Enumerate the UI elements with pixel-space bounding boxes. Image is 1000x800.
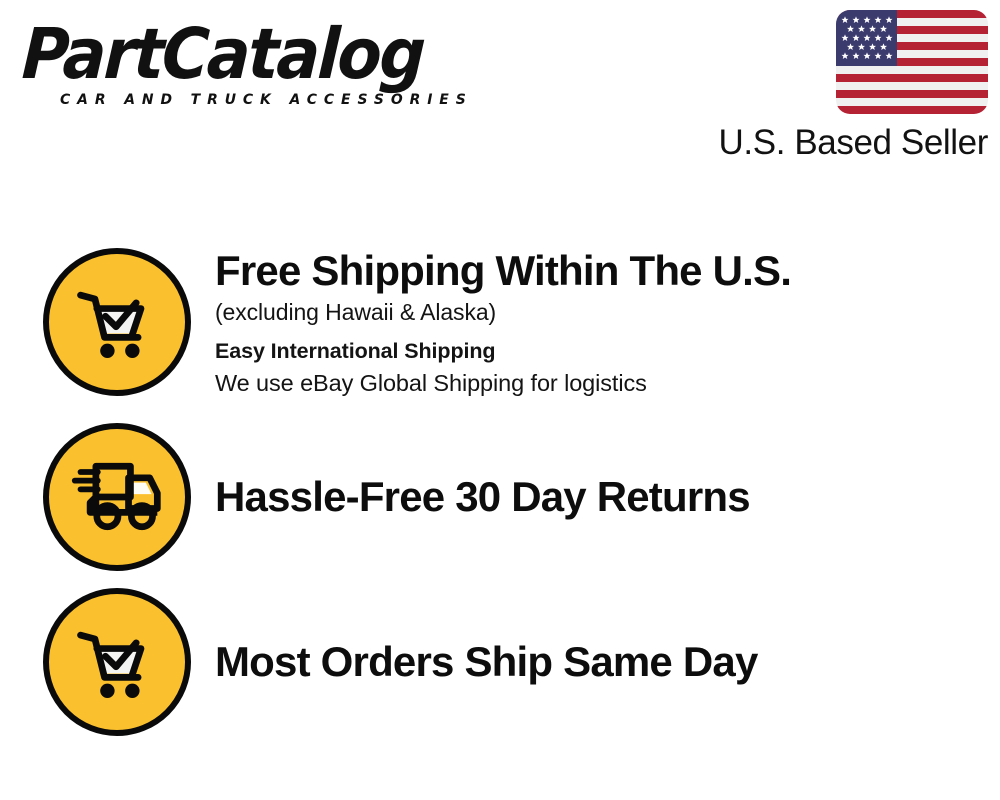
feature-subtitle-plain: We use eBay Global Shipping for logistic… (215, 367, 791, 399)
flag-canton (836, 10, 897, 66)
flag-stars-icon (836, 10, 897, 66)
feature-title: Most Orders Ship Same Day (215, 637, 758, 687)
shopping-cart-check-icon (43, 248, 191, 396)
feature-title: Free Shipping Within The U.S. (215, 246, 791, 296)
feature-text: Most Orders Ship Same Day (215, 637, 758, 687)
feature-list: Free Shipping Within The U.S. (excluding… (0, 240, 1000, 742)
feature-row: Hassle-Free 30 Day Returns (0, 412, 1000, 582)
feature-text: Free Shipping Within The U.S. (excluding… (215, 246, 791, 399)
shopping-cart-check-icon (43, 588, 191, 736)
brand-wordmark: PartCatalog (21, 18, 457, 90)
seller-label: U.S. Based Seller (718, 123, 988, 163)
feature-note: (excluding Hawaii & Alaska) (215, 296, 791, 328)
brand-logo: PartCatalog CAR AND TRUCK ACCESSORIES (24, 18, 494, 118)
feature-subtitle-bold: Easy International Shipping (215, 335, 791, 367)
brand-tagline: CAR AND TRUCK ACCESSORIES (60, 92, 477, 108)
feature-text: Hassle-Free 30 Day Returns (215, 472, 750, 522)
truck-glyph (69, 449, 165, 545)
flag-stripe (836, 98, 988, 106)
flag-stripe (836, 74, 988, 82)
delivery-truck-icon (43, 423, 191, 571)
flag-stripe (836, 82, 988, 90)
flag-stripe (836, 66, 988, 74)
feature-row: Free Shipping Within The U.S. (excluding… (0, 240, 1000, 412)
cart-glyph (69, 274, 165, 370)
feature-row: Most Orders Ship Same Day (0, 582, 1000, 742)
flag-stripe (836, 106, 988, 114)
seller-badge: U.S. Based Seller (718, 10, 988, 163)
cart-glyph (69, 614, 165, 710)
feature-title: Hassle-Free 30 Day Returns (215, 472, 750, 522)
us-flag-icon (836, 10, 988, 114)
flag-stripe (836, 90, 988, 98)
